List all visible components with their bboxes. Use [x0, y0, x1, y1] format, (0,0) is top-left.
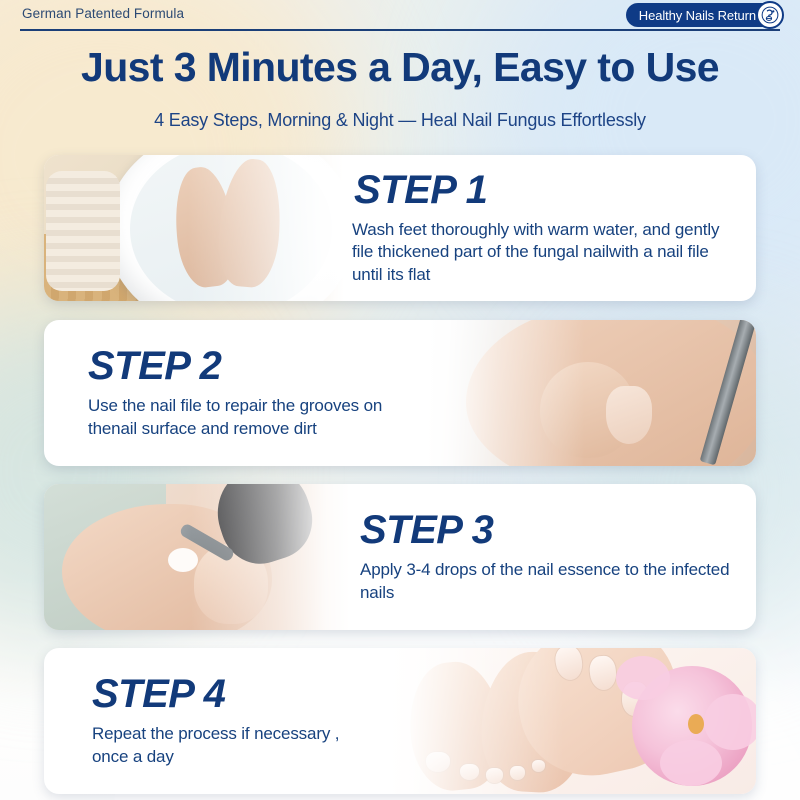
healthy-nails-badge: Healthy Nails Return	[626, 3, 782, 27]
top-bar: German Patented Formula Healthy Nails Re…	[0, 0, 800, 36]
step-3-title: STEP 3	[360, 510, 736, 550]
step-4-photo	[386, 648, 756, 794]
step-1-title: STEP 1	[354, 170, 736, 210]
step-card: STEP 1 Wash feet thoroughly with warm wa…	[44, 155, 756, 301]
step-1-body: Wash feet thoroughly with warm water, an…	[352, 219, 736, 287]
step-card: STEP 4 Repeat the process if necessary ,…	[44, 648, 756, 794]
brand-note: German Patented Formula	[22, 6, 184, 21]
step-2-body: Use the nail file to repair the grooves …	[88, 395, 418, 440]
header-divider-rule	[20, 29, 780, 31]
step-2-title: STEP 2	[88, 346, 418, 386]
badge-label: Healthy Nails Return	[639, 8, 756, 23]
step-1-text: STEP 1 Wash feet thoroughly with warm wa…	[344, 155, 756, 301]
page-subtitle: 4 Easy Steps, Morning & Night — Heal Nai…	[0, 110, 800, 131]
step-card: STEP 2 Use the nail file to repair the g…	[44, 320, 756, 466]
page-title: Just 3 Minutes a Day, Easy to Use	[0, 44, 800, 91]
step-card: STEP 3 Apply 3-4 drops of the nail essen…	[44, 484, 756, 630]
step-4-text: STEP 4 Repeat the process if necessary ,…	[44, 648, 386, 794]
step-4-body: Repeat the process if necessary , once a…	[92, 723, 378, 768]
nail-care-circle-icon	[756, 1, 784, 29]
step-3-photo	[44, 484, 350, 630]
infographic-page: German Patented Formula Healthy Nails Re…	[0, 0, 800, 800]
step-1-photo	[44, 155, 344, 301]
step-4-title: STEP 4	[92, 674, 378, 714]
step-3-text: STEP 3 Apply 3-4 drops of the nail essen…	[350, 484, 756, 630]
step-2-photo	[426, 320, 756, 466]
step-3-body: Apply 3-4 drops of the nail essence to t…	[360, 559, 736, 604]
step-2-text: STEP 2 Use the nail file to repair the g…	[44, 320, 426, 466]
